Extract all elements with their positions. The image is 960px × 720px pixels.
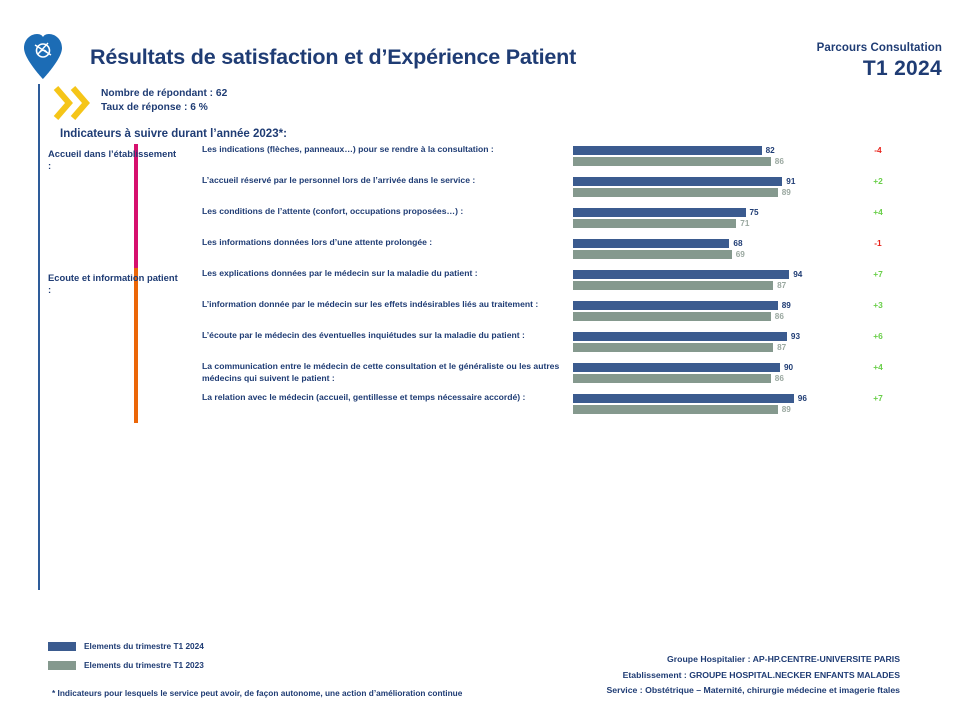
bar-value-previous: 87 [777, 343, 786, 352]
question-label: Les informations données lors d’une atte… [176, 237, 573, 249]
chart-row[interactable]: L’accueil réservé par le personnel lors … [176, 175, 960, 206]
group-side: Accueil dans l’établissement : [0, 144, 176, 268]
period-value: T1 2024 [817, 57, 942, 81]
group-side: Ecoute et information patient : [0, 268, 176, 423]
chart-row[interactable]: Les informations données lors d’une atte… [176, 237, 960, 268]
bar-previous [573, 405, 778, 414]
chart-row[interactable]: Les conditions de l’attente (confort, oc… [176, 206, 960, 237]
footer-group-hospitalier: Groupe Hospitalier : AP-HP.CENTRE-UNIVER… [606, 652, 900, 668]
question-group: Accueil dans l’établissement :Les indica… [0, 144, 960, 268]
delta-value: +6 [863, 331, 893, 341]
delta-value: +2 [863, 176, 893, 186]
bar-value-previous: 89 [782, 188, 791, 197]
bar-value-current: 82 [766, 146, 775, 155]
bar-line-current: 82 [573, 146, 960, 155]
double-chevron-right-icon [53, 86, 93, 120]
question-label: L’écoute par le médecin des éventuelles … [176, 330, 573, 342]
question-label: Les indications (flèches, panneaux…) pou… [176, 144, 573, 156]
bar-value-current: 89 [782, 301, 791, 310]
legend-label: Elements du trimestre T1 2023 [84, 660, 204, 670]
bar-value-previous: 86 [775, 312, 784, 321]
bar-line-current: 75 [573, 208, 960, 217]
bar-value-previous: 87 [777, 281, 786, 290]
bar-line-previous: 87 [573, 281, 960, 290]
period-label: Parcours Consultation [817, 42, 942, 54]
period-block: Parcours Consultation T1 2024 [817, 42, 942, 81]
bar-previous [573, 374, 771, 383]
bar-line-previous: 71 [573, 219, 960, 228]
footer-service: Service : Obstétrique – Maternité, chiru… [606, 683, 900, 699]
row-bars: 6869-1 [573, 237, 960, 261]
row-bars: 9487+7 [573, 268, 960, 292]
bar-value-current: 93 [791, 332, 800, 341]
legend-swatch [48, 642, 76, 651]
page-title: Résultats de satisfaction et d’Expérienc… [90, 45, 576, 70]
question-label: La communication entre le médecin de cet… [176, 361, 573, 384]
bar-previous [573, 219, 736, 228]
bar-line-previous: 87 [573, 343, 960, 352]
group-title: Accueil dans l’établissement : [48, 148, 178, 172]
delta-value: +7 [863, 269, 893, 279]
bar-value-previous: 89 [782, 405, 791, 414]
bar-current [573, 394, 794, 403]
bar-line-previous: 86 [573, 157, 960, 166]
delta-value: +7 [863, 393, 893, 403]
bar-value-previous: 86 [775, 157, 784, 166]
legend-label: Elements du trimestre T1 2024 [84, 641, 204, 651]
bar-previous [573, 157, 771, 166]
bar-current [573, 363, 780, 372]
delta-value: -4 [863, 145, 893, 155]
bar-previous [573, 312, 771, 321]
bar-line-previous: 89 [573, 405, 960, 414]
bar-line-current: 93 [573, 332, 960, 341]
delta-value: +4 [863, 362, 893, 372]
legend-item: Elements du trimestre T1 2024 [48, 641, 204, 651]
bar-value-current: 91 [786, 177, 795, 186]
row-bars: 8286-4 [573, 144, 960, 168]
bar-current [573, 177, 782, 186]
group-rows: Les indications (flèches, panneaux…) pou… [176, 144, 960, 268]
row-bars: 9387+6 [573, 330, 960, 354]
bar-line-current: 90 [573, 363, 960, 372]
bar-line-current: 91 [573, 177, 960, 186]
bar-value-current: 94 [793, 270, 802, 279]
indicators-heading: Indicateurs à suivre durant l’année 2023… [60, 128, 287, 140]
legend-swatch [48, 661, 76, 670]
chart-row[interactable]: La relation avec le médecin (accueil, ge… [176, 392, 960, 423]
bar-current [573, 146, 762, 155]
question-label: L’accueil réservé par le personnel lors … [176, 175, 573, 187]
bar-line-previous: 69 [573, 250, 960, 259]
question-label: Les conditions de l’attente (confort, oc… [176, 206, 573, 218]
chart-row[interactable]: L’information donnée par le médecin sur … [176, 299, 960, 330]
respondent-stats: Nombre de répondant : 62 Taux de réponse… [101, 87, 227, 114]
bar-value-current: 75 [750, 208, 759, 217]
bar-value-previous: 71 [740, 219, 749, 228]
question-label: La relation avec le médecin (accueil, ge… [176, 392, 573, 404]
row-bars: 9189+2 [573, 175, 960, 199]
chart-row[interactable]: Les explications données par le médecin … [176, 268, 960, 299]
response-rate: Taux de réponse : 6 % [101, 101, 227, 115]
footer-etablissement: Etablissement : GROUPE HOSPITAL.NECKER E… [606, 668, 900, 684]
aphp-heart-logo-icon [22, 33, 64, 79]
group-rows: Les explications données par le médecin … [176, 268, 960, 423]
bar-line-current: 94 [573, 270, 960, 279]
group-title: Ecoute et information patient : [48, 272, 178, 296]
question-label: L’information donnée par le médecin sur … [176, 299, 573, 311]
chart-row[interactable]: Les indications (flèches, panneaux…) pou… [176, 144, 960, 175]
bar-line-current: 96 [573, 394, 960, 403]
bar-previous [573, 343, 773, 352]
row-bars: 7571+4 [573, 206, 960, 230]
bar-line-current: 68 [573, 239, 960, 248]
row-bars: 9086+4 [573, 361, 960, 385]
bar-current [573, 270, 789, 279]
chart-row[interactable]: L’écoute par le médecin des éventuelles … [176, 330, 960, 361]
legend-item: Elements du trimestre T1 2023 [48, 660, 204, 670]
chart-legend: Elements du trimestre T1 2024Elements du… [48, 641, 204, 679]
legend-footnote: * Indicateurs pour lesquels le service p… [52, 688, 462, 698]
bar-line-previous: 86 [573, 374, 960, 383]
bar-line-previous: 86 [573, 312, 960, 321]
bar-previous [573, 188, 778, 197]
bar-previous [573, 250, 732, 259]
bar-value-current: 90 [784, 363, 793, 372]
satisfaction-bar-chart: Accueil dans l’établissement :Les indica… [0, 144, 960, 423]
bar-value-previous: 86 [775, 374, 784, 383]
question-label: Les explications données par le médecin … [176, 268, 573, 280]
bar-value-previous: 69 [736, 250, 745, 259]
bar-value-current: 68 [733, 239, 742, 248]
question-group: Ecoute et information patient :Les expli… [0, 268, 960, 423]
bar-current [573, 301, 778, 310]
delta-value: -1 [863, 238, 893, 248]
bar-current [573, 208, 746, 217]
delta-value: +4 [863, 207, 893, 217]
bar-line-current: 89 [573, 301, 960, 310]
bar-previous [573, 281, 773, 290]
delta-value: +3 [863, 300, 893, 310]
bar-line-previous: 89 [573, 188, 960, 197]
bar-value-current: 96 [798, 394, 807, 403]
establishment-footer: Groupe Hospitalier : AP-HP.CENTRE-UNIVER… [606, 652, 900, 699]
row-bars: 8986+3 [573, 299, 960, 323]
row-bars: 9689+7 [573, 392, 960, 416]
bar-current [573, 332, 787, 341]
chart-row[interactable]: La communication entre le médecin de cet… [176, 361, 960, 392]
respondent-count: Nombre de répondant : 62 [101, 87, 227, 101]
bar-current [573, 239, 729, 248]
